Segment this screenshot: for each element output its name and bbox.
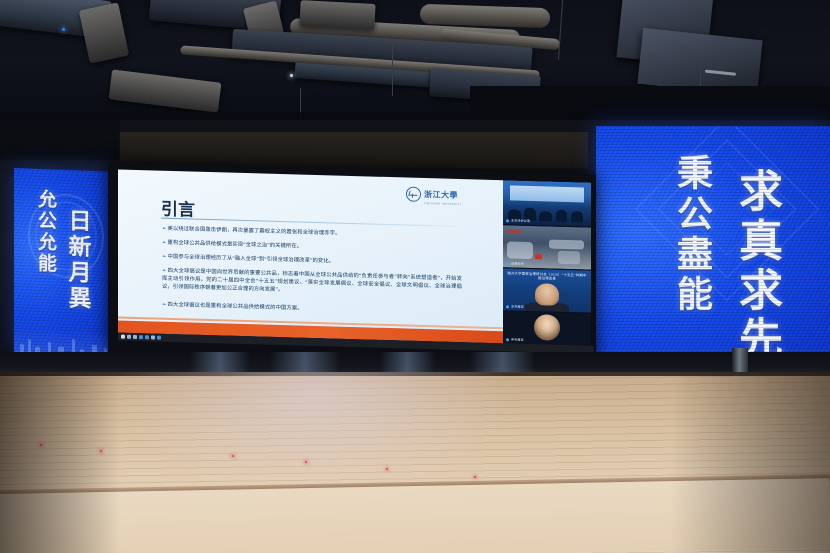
- slide-bullet-2: ➢重构全球公共品供给模式是实现“全球之治”的关键所在。: [162, 239, 462, 255]
- presentation-slide: 浙江大學 ZHEJIANG UNIVERSITY 引言 ➢美以绕过联合国轰击伊朗…: [118, 169, 503, 343]
- slide-bullet-3: ➢中国参与全球治理经历了从“融入全球”到“引领全球治理改革”的变化。: [162, 253, 462, 269]
- slide-bullet-1-text: 美以绕过联合国轰击伊朗，再次暴露了霸权主义的嚣张和全球治理赤字。: [168, 226, 341, 237]
- mic-icon: [506, 305, 509, 308]
- zju-logo-cn: 浙江大學: [424, 190, 458, 200]
- slide-bullet-5-text: 四大全球倡议也是重构全球公共品供给模式的中国方案。: [168, 302, 303, 312]
- vc-tile-participant[interactable]: 参会嘉宾: [503, 311, 591, 345]
- bullet-marker-icon: ➢: [162, 302, 167, 308]
- left-led-banner: 允公允能 日新月異: [14, 168, 118, 357]
- vc-tile-label: 参会嘉宾: [506, 338, 524, 341]
- task-view-icon[interactable]: [133, 335, 137, 339]
- hanging-rod: [392, 38, 393, 96]
- mic-icon: [506, 262, 509, 265]
- explorer-icon[interactable]: [139, 335, 143, 339]
- vc-tile-label: 远程会场: [506, 262, 524, 265]
- slide-title: 引言: [161, 195, 195, 221]
- meeting-icon[interactable]: [157, 336, 161, 340]
- hanging-rod: [558, 0, 563, 60]
- hvac-duct: [299, 0, 375, 30]
- slide-bullet-1: ➢美以绕过联合国轰击伊朗，再次暴露了霸权主义的嚣张和全球治理赤字。: [162, 225, 462, 241]
- vc-tile-remote-room[interactable]: 远程会场: [503, 225, 591, 269]
- air-pipe: [420, 4, 551, 29]
- vc-tile-speaker[interactable]: 南开大学国家治理研讨会（2026）“十五五”时期中国治理改革 发言嘉宾: [503, 268, 591, 312]
- right-banner-column-1: 求真求先: [724, 168, 788, 365]
- ppt-icon[interactable]: [151, 335, 155, 339]
- bullet-marker-icon: ➢: [162, 240, 167, 246]
- bullet-marker-icon: ➢: [162, 254, 167, 260]
- screenshot-root: 允公允能 日新月異 秉公盡能 求真求先: [0, 0, 830, 553]
- vc-label-text: 发言嘉宾: [511, 305, 524, 308]
- vc-tile-label: 发言嘉宾: [506, 305, 524, 308]
- wall-panel: [0, 120, 120, 160]
- floor-shadow: [670, 372, 830, 553]
- bullet-marker-icon: ➢: [162, 226, 167, 232]
- slide-bullet-5: ➢四大全球倡议也是重构全球公共品供给模式的中国方案。: [162, 301, 462, 317]
- zhejiang-university-logo: 浙江大學 ZHEJIANG UNIVERSITY: [406, 184, 462, 207]
- laser-dot: [386, 468, 388, 470]
- floor-light-pool: [120, 372, 510, 492]
- zju-logo-en: ZHEJIANG UNIVERSITY: [424, 203, 462, 207]
- speaker-head: [535, 283, 559, 306]
- floor-shadow: [0, 372, 120, 553]
- left-banner-column-1: 日新月異: [60, 208, 94, 312]
- mic-icon: [506, 338, 509, 341]
- vc-tile-meeting-room[interactable]: 主会场会议室: [503, 180, 591, 226]
- hvac-duct: [109, 69, 222, 112]
- browser-icon[interactable]: [145, 335, 149, 339]
- search-icon[interactable]: [127, 335, 131, 339]
- zju-emblem-icon: [406, 187, 421, 202]
- bullet-marker-icon: ➢: [162, 268, 167, 274]
- vc-label-text: 主会场会议室: [511, 219, 530, 223]
- slide-bullet-3-text: 中国参与全球治理经历了从“融入全球”到“引领全球治理改革”的变化。: [168, 254, 335, 265]
- slide-bullet-4: ➢四大全球倡议是中国向世界贡献的重要公共品，标志着中国从全球公共品供给的“负责任…: [162, 267, 462, 300]
- main-led-screen: 浙江大學 ZHEJIANG UNIVERSITY 引言 ➢美以绕过联合国轰击伊朗…: [108, 161, 596, 367]
- left-banner-column-2: 允公允能: [32, 189, 59, 275]
- zju-logo-text: 浙江大學 ZHEJIANG UNIVERSITY: [424, 184, 462, 207]
- laser-dot: [474, 476, 476, 478]
- vc-label-text: 远程会场: [511, 262, 524, 265]
- stage-floor: [0, 372, 830, 553]
- laser-dot: [305, 461, 307, 463]
- laser-dot: [232, 455, 234, 457]
- spot-light: [290, 74, 293, 77]
- remote-wall-screen: [510, 186, 584, 203]
- speaker-vent: [705, 69, 736, 75]
- indicator-light: [62, 28, 65, 31]
- video-conference-sidebar[interactable]: 主会场会议室 远程会场 南开大学国家治理研讨会（2026）“十五五”时期中国治理…: [503, 180, 591, 345]
- right-banner-column-2: 秉公盡能: [666, 154, 718, 315]
- vc-event-banner: 南开大学国家治理研讨会（2026）“十五五”时期中国治理改革: [507, 271, 588, 282]
- hvac-duct: [79, 2, 129, 63]
- vc-label-text: 参会嘉宾: [511, 338, 524, 341]
- vc-tile-label: 主会场会议室: [506, 219, 530, 223]
- right-led-banner: 秉公盡能 求真求先: [596, 126, 830, 376]
- mic-icon: [506, 219, 509, 222]
- slide-bullet-4-text: 四大全球倡议是中国向世界贡献的重要公共品，标志着中国从全球公共品供给的“负责任参…: [162, 268, 462, 293]
- slide-bullet-2-text: 重构全球公共品供给模式是实现“全球之治”的关键所在。: [168, 240, 303, 250]
- start-icon[interactable]: [121, 335, 125, 339]
- avatar: [534, 314, 560, 341]
